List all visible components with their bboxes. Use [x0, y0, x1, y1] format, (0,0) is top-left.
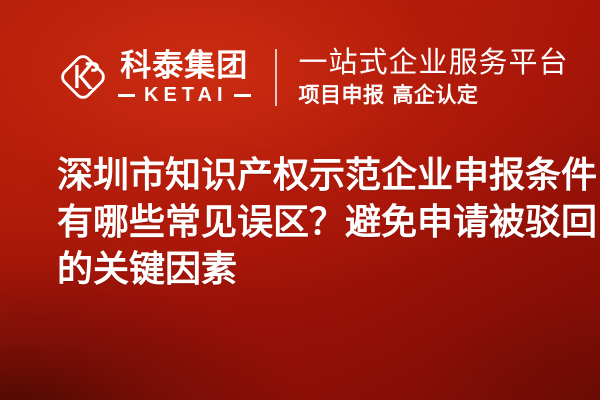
brand-dash-left-icon: [118, 94, 135, 97]
banner-title-line-1: 深圳市知识产权示范企业申报条件: [57, 152, 557, 199]
banner-header: 科泰集团 KETAI 一站式企业服务平台 项目申报 高企认定: [58, 42, 569, 112]
brand-wordmark: 科泰集团 KETAI: [118, 49, 251, 106]
brand-name-cn: 科泰集团: [120, 49, 248, 83]
brand-dash-right-icon: [234, 94, 251, 97]
banner-title: 深圳市知识产权示范企业申报条件 有哪些常见误区？避免申请被驳回 的关键因素: [57, 152, 557, 293]
header-vertical-divider: [275, 49, 277, 106]
promo-banner: 科泰集团 KETAI 一站式企业服务平台 项目申报 高企认定 深圳市知识产权示范…: [0, 0, 600, 400]
brand-name-en: KETAI: [135, 85, 234, 106]
tagline-secondary: 项目申报 高企认定: [299, 83, 569, 108]
ketai-diamond-monogram-logo-icon: [58, 50, 108, 104]
brand-name-en-row: KETAI: [118, 85, 251, 106]
banner-title-line-2: 有哪些常见误区？避免申请被驳回: [57, 199, 557, 246]
brand-lockup[interactable]: 科泰集团 KETAI: [58, 49, 251, 106]
tagline-primary: 一站式企业服务平台: [299, 47, 569, 80]
banner-title-line-3: 的关键因素: [57, 246, 557, 293]
tagline-block: 一站式企业服务平台 项目申报 高企认定: [299, 47, 569, 108]
